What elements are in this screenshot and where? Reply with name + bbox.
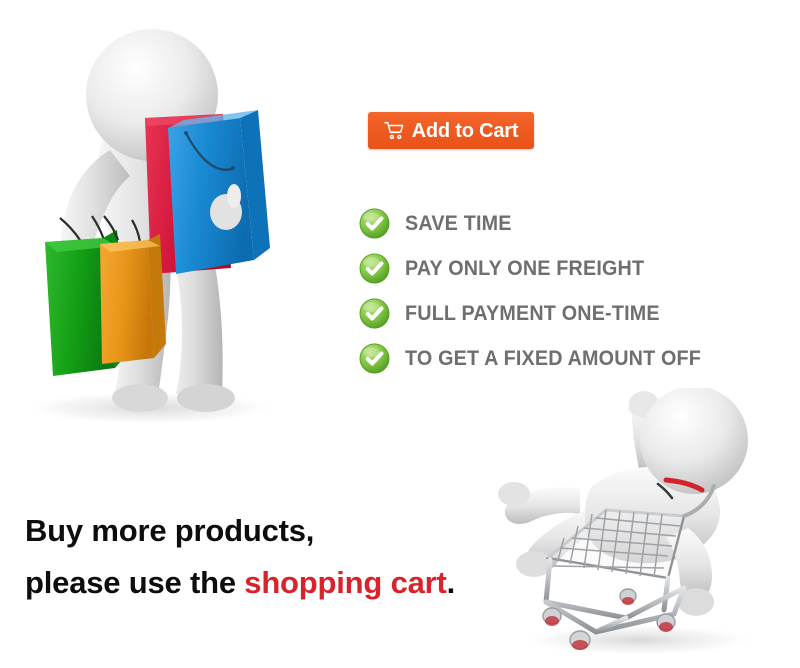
benefit-item: FULL PAYMENT ONE-TIME bbox=[359, 291, 779, 336]
add-to-cart-label: Add to Cart bbox=[412, 121, 519, 141]
green-check-circle-icon bbox=[359, 253, 390, 284]
benefit-label: PAY ONLY ONE FREIGHT bbox=[405, 257, 644, 281]
tagline: Buy more products, please use the shoppi… bbox=[25, 505, 495, 609]
tagline-line-1: Buy more products, bbox=[25, 505, 495, 557]
add-to-cart-button[interactable]: Add to Cart bbox=[368, 112, 534, 149]
benefits-list: SAVE TIME PAY ONLY ONE FREIGHT FULL PAYM… bbox=[359, 201, 779, 381]
green-check-circle-icon bbox=[359, 298, 390, 329]
3d-person-holding-shopping-bags-illustration bbox=[0, 0, 340, 430]
benefit-item: SAVE TIME bbox=[359, 201, 779, 246]
tagline-line-2: please use the shopping cart. bbox=[25, 557, 495, 609]
3d-person-lying-in-shopping-cart-illustration bbox=[488, 388, 800, 660]
benefit-item: PAY ONLY ONE FREIGHT bbox=[359, 246, 779, 291]
green-check-circle-icon bbox=[359, 208, 390, 239]
benefit-label: FULL PAYMENT ONE-TIME bbox=[405, 302, 660, 326]
benefit-item: TO GET A FIXED AMOUNT OFF bbox=[359, 336, 779, 381]
tagline-prefix: please use the bbox=[25, 565, 244, 600]
tagline-suffix: . bbox=[447, 565, 455, 600]
green-check-circle-icon bbox=[359, 343, 390, 374]
benefit-label: TO GET A FIXED AMOUNT OFF bbox=[405, 347, 701, 371]
benefit-label: SAVE TIME bbox=[405, 212, 512, 236]
tagline-highlight: shopping cart bbox=[244, 565, 446, 600]
shopping-cart-icon bbox=[384, 121, 405, 140]
promo-banner: Add to Cart SAVE TIME bbox=[0, 0, 800, 668]
